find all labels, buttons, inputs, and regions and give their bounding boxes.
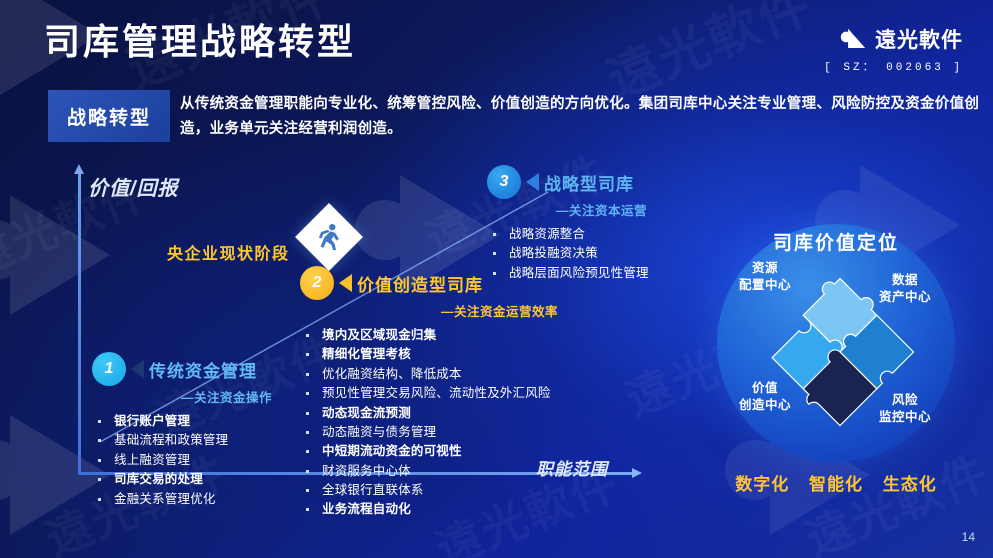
list-item: 动态现金流预测 <box>300 404 558 423</box>
puzzle-label-line2: 创造中心 <box>739 398 791 412</box>
stage-1-title: 传统资金管理 <box>149 357 257 382</box>
stage-group-1: 1 传统资金管理 —关注资金操作 银行账户管理 基础流程和政策管理 线上融资管理… <box>92 352 272 509</box>
stock-code: [ SZ： 002063 ] <box>824 58 963 74</box>
stage-3-title: 战略型司库 <box>544 170 634 195</box>
stage-2-number: 2 <box>300 266 334 300</box>
list-item: 银行账户管理 <box>92 412 272 431</box>
puzzle-label-line1: 价值 <box>752 381 778 395</box>
list-item: 动态融资与债务管理 <box>300 423 558 442</box>
stage-1-pointer-icon <box>131 360 144 378</box>
brand-name: 遠光軟件 <box>875 24 963 54</box>
stage-2-bullet-list: 境内及区域现金归集 精细化管理考核 优化融资结构、降低成本 预见性管理交易风险、… <box>300 326 558 520</box>
puzzle-label-line1: 数据 <box>892 273 918 287</box>
list-item: 金融关系管理优化 <box>92 490 272 509</box>
puzzle-label-line2: 配置中心 <box>739 278 791 292</box>
stage-2-pointer-icon <box>339 274 352 292</box>
page-title: 司库管理战略转型 <box>44 22 356 62</box>
list-item: 优化融资结构、降低成本 <box>300 365 558 384</box>
stage-group-3: 3 战略型司库 —关注资本运营 战略资源整合 战略投融资决策 战略层面风险预见性… <box>487 165 649 283</box>
stage-3-subtitle: —关注资本运营 <box>487 200 647 219</box>
puzzle-label-line1: 资源 <box>752 261 778 275</box>
stage-group-2: 2 价值创造型司库 —关注资金运营效率 境内及区域现金归集 精细化管理考核 优化… <box>300 266 558 520</box>
list-item: 基础流程和政策管理 <box>92 431 272 450</box>
puzzle-label-line1: 风险 <box>892 393 918 407</box>
stage-3-bullet-list: 战略资源整合 战略投融资决策 战略层面风险预见性管理 <box>487 225 649 283</box>
yuanguang-logo-icon <box>838 26 868 52</box>
stage-2-title: 价值创造型司库 <box>357 271 483 296</box>
section-badge: 战略转型 <box>48 90 170 142</box>
section-description: 从传统资金管理职能向专业化、统筹管控风险、价值创造的方向优化。集团司库中心关注专… <box>180 92 985 142</box>
list-item: 线上融资管理 <box>92 451 272 470</box>
panel-title: 司库价值定位 <box>717 228 955 255</box>
list-item: 战略层面风险预见性管理 <box>487 264 649 283</box>
stage-1-subtitle: —关注资金操作 <box>92 387 272 406</box>
list-item: 中短期流动资金的可视性 <box>300 442 558 461</box>
stage-1-header: 1 传统资金管理 <box>92 352 272 386</box>
puzzle-label-risk-monitor: 风险 监控中心 <box>866 392 944 426</box>
stage-3-pointer-icon <box>526 173 539 191</box>
puzzle-label-line2: 资产中心 <box>879 290 931 304</box>
current-state-label: 央企业现状阶段 <box>167 240 290 264</box>
page-number: 14 <box>962 530 975 544</box>
slide-canvas: 遠光軟件 遠光軟件 遠光軟件 遠光軟件 遠光軟件 遠光軟件 遠光軟件 遠光軟件 … <box>0 0 993 558</box>
keyword-item: 生态化 <box>883 475 937 494</box>
panel-keywords: 数字化 智能化 生态化 <box>700 470 972 495</box>
list-item: 全球银行直联体系 <box>300 481 558 500</box>
list-item: 预见性管理交易风险、流动性及外汇风险 <box>300 384 558 403</box>
value-axis <box>78 172 81 475</box>
puzzle-label-line2: 监控中心 <box>879 410 931 424</box>
list-item: 司库交易的处理 <box>92 470 272 489</box>
list-item: 财资服务中心体 <box>300 462 558 481</box>
stage-1-number: 1 <box>92 352 126 386</box>
list-item: 精细化管理考核 <box>300 345 558 364</box>
list-item: 战略投融资决策 <box>487 244 649 263</box>
list-item: 境内及区域现金归集 <box>300 326 558 345</box>
list-item: 战略资源整合 <box>487 225 649 244</box>
stage-1-bullet-list: 银行账户管理 基础流程和政策管理 线上融资管理 司库交易的处理 金融关系管理优化 <box>92 412 272 509</box>
puzzle-label-value-creation: 价值 创造中心 <box>727 380 803 414</box>
keyword-item: 数字化 <box>735 475 789 494</box>
keyword-item: 智能化 <box>809 475 863 494</box>
stage-3-number: 3 <box>487 165 521 199</box>
brand-logo: 遠光軟件 [ SZ： 002063 ] <box>824 24 963 74</box>
list-item: 业务流程自动化 <box>300 500 558 519</box>
puzzle-label-resource: 资源 配置中心 <box>727 260 803 294</box>
puzzle-label-data-asset: 数据 资产中心 <box>866 272 944 306</box>
stage-3-header: 3 战略型司库 <box>487 165 649 199</box>
stage-2-subtitle: —关注资金运营效率 <box>300 301 558 320</box>
